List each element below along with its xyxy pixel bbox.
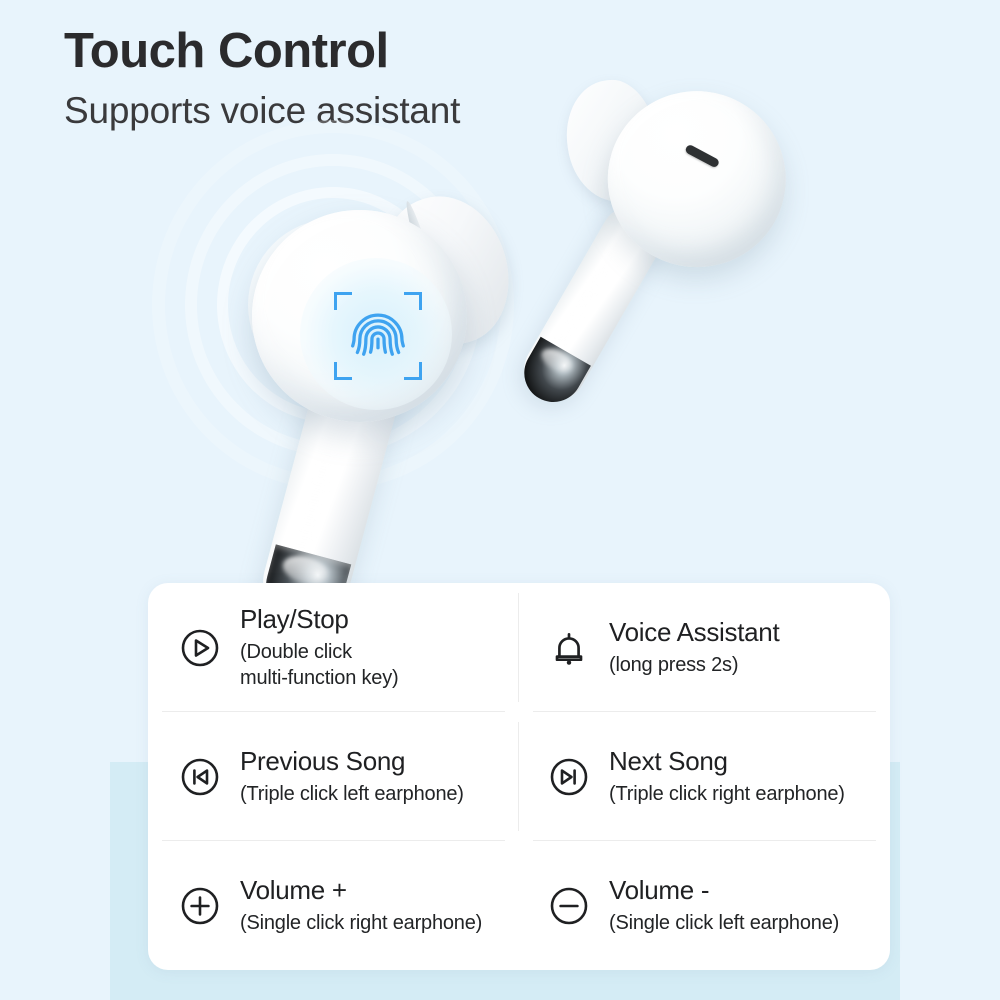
- feature-text: Volume - (Single click left earphone): [609, 875, 839, 936]
- feature-title: Play/Stop: [240, 604, 398, 635]
- page-title: Touch Control: [64, 24, 624, 79]
- right-earbud-stem: [513, 195, 674, 412]
- next-track-circle-icon: [543, 751, 595, 803]
- feature-cell-previous-song[interactable]: Previous Song (Triple click left earphon…: [148, 712, 519, 841]
- fingerprint-icon: [334, 292, 422, 380]
- feature-subtitle-line: multi-function key): [240, 665, 398, 691]
- feature-subtitle: (long press 2s): [609, 652, 779, 678]
- ripple-ring: [248, 219, 418, 391]
- right-earbud-black-tip: [514, 337, 591, 413]
- feature-title: Voice Assistant: [609, 617, 779, 648]
- feature-cell-play-stop[interactable]: Play/Stop (Double click multi-function k…: [148, 583, 519, 712]
- bell-icon: [543, 622, 595, 674]
- bracket-corner-icon: [334, 362, 352, 380]
- right-earbud-speaker-slot: [684, 144, 720, 169]
- ripple-ring: [152, 120, 514, 490]
- plus-circle-icon: [174, 880, 226, 932]
- touch-zone-glow: [300, 258, 452, 410]
- feature-text: Previous Song (Triple click left earphon…: [240, 746, 464, 807]
- feature-subtitle: (Triple click right earphone): [609, 781, 845, 807]
- feature-cell-volume-up[interactable]: Volume + (Single click right earphone): [148, 841, 519, 970]
- feature-text: Play/Stop (Double click multi-function k…: [240, 604, 398, 691]
- previous-track-circle-icon: [174, 751, 226, 803]
- page-subtitle: Supports voice assistant: [64, 89, 624, 133]
- feature-cell-volume-down[interactable]: Volume - (Single click left earphone): [519, 841, 890, 970]
- feature-subtitle: (Double click multi-function key): [240, 639, 398, 691]
- left-earbud-stem-highlight: [289, 356, 360, 568]
- feature-grid: Play/Stop (Double click multi-function k…: [148, 583, 890, 970]
- feature-title: Previous Song: [240, 746, 464, 777]
- left-earbud-eartip: [363, 181, 526, 361]
- feature-subtitle-line: (Triple click right earphone): [609, 781, 845, 807]
- feature-subtitle: (Single click right earphone): [240, 910, 482, 936]
- right-earbud-head: [599, 82, 794, 276]
- bracket-corner-icon: [404, 362, 422, 380]
- infographic-stage: Touch Control Supports voice assistant: [0, 0, 1000, 1000]
- feature-subtitle-line: (Triple click left earphone): [240, 781, 464, 807]
- left-earbud: [232, 190, 532, 620]
- feature-cell-voice-assistant[interactable]: Voice Assistant (long press 2s): [519, 583, 890, 712]
- header-block: Touch Control Supports voice assistant: [64, 24, 624, 133]
- left-earbud-head: [252, 210, 467, 422]
- right-earbud-stem-highlight: [550, 218, 635, 353]
- feature-text: Volume + (Single click right earphone): [240, 875, 482, 936]
- ripple-ring: [276, 248, 390, 362]
- minus-circle-icon: [543, 880, 595, 932]
- feature-subtitle-line: (long press 2s): [609, 652, 779, 678]
- ripple-ring: [217, 187, 449, 423]
- feature-title: Volume -: [609, 875, 839, 906]
- play-circle-icon: [174, 622, 226, 674]
- touch-control-feature-card: Play/Stop (Double click multi-function k…: [148, 583, 890, 970]
- ripple-ring: [185, 154, 481, 456]
- left-earbud-eartip-ring: [402, 199, 457, 344]
- bracket-corner-icon: [404, 292, 422, 310]
- feature-subtitle: (Single click left earphone): [609, 910, 839, 936]
- feature-text: Voice Assistant (long press 2s): [609, 617, 779, 678]
- feature-subtitle-line: (Single click left earphone): [609, 910, 839, 936]
- feature-text: Next Song (Triple click right earphone): [609, 746, 845, 807]
- feature-subtitle-line: (Single click right earphone): [240, 910, 482, 936]
- feature-subtitle: (Triple click left earphone): [240, 781, 464, 807]
- feature-cell-next-song[interactable]: Next Song (Triple click right earphone): [519, 712, 890, 841]
- feature-title: Next Song: [609, 746, 845, 777]
- bracket-corner-icon: [334, 292, 352, 310]
- feature-title: Volume +: [240, 875, 482, 906]
- feature-subtitle-line: (Double click: [240, 639, 398, 665]
